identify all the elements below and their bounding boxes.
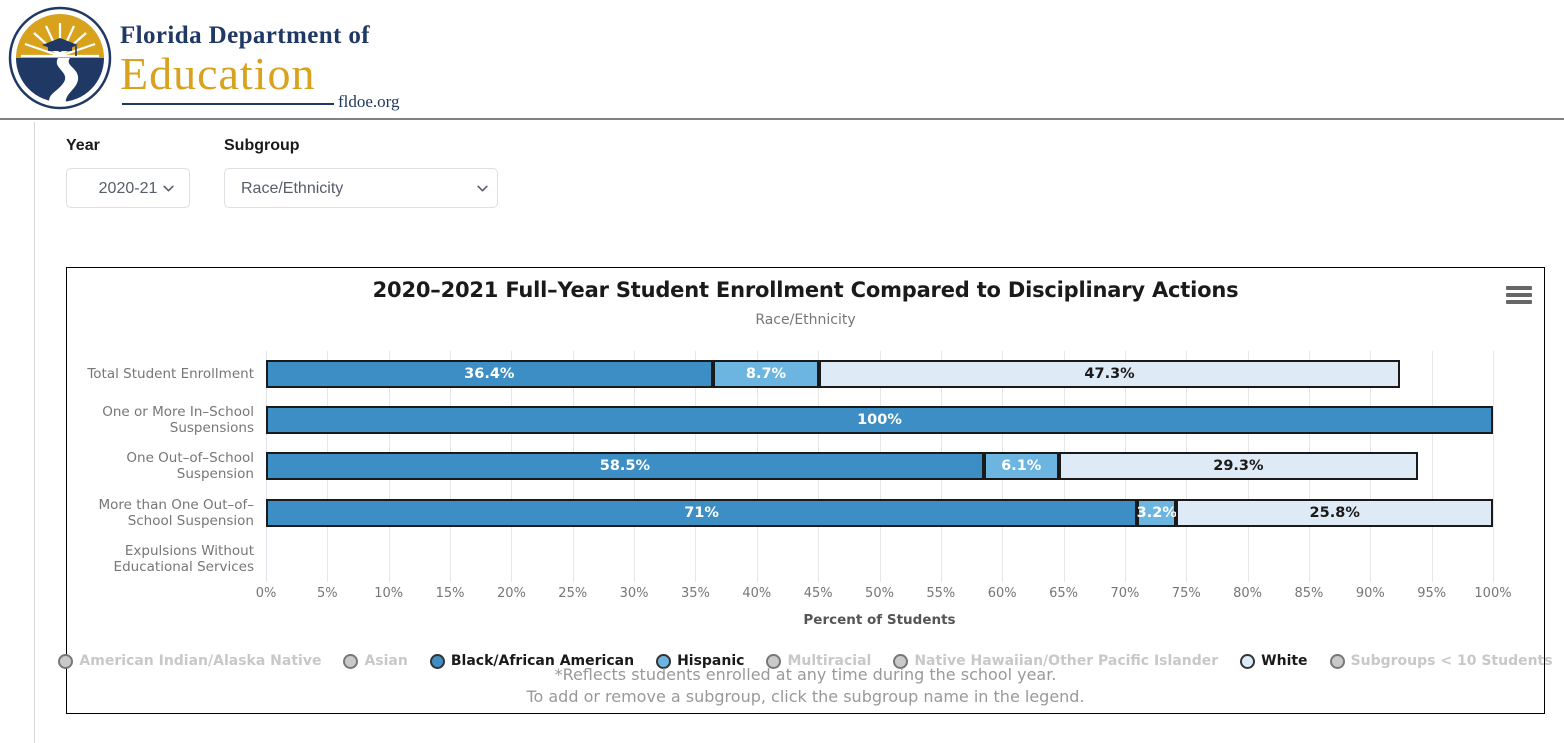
year-select[interactable]: 2020-21 <box>66 168 190 208</box>
x-tick-label: 40% <box>742 586 771 601</box>
bar-track <box>266 545 1493 573</box>
subgroup-select[interactable]: Race/Ethnicity <box>224 168 498 208</box>
bar-segment[interactable]: 47.3% <box>819 360 1399 388</box>
bar-track: 58.5%6.1%29.3% <box>266 452 1493 480</box>
bar-segment[interactable]: 36.4% <box>266 360 713 388</box>
logo-url: fldoe.org <box>338 92 400 112</box>
x-tick-label: 100% <box>1474 586 1511 601</box>
bar-row: One Out–of–School Suspension58.5%6.1%29.… <box>266 443 1493 489</box>
bar-track: 71%3.2%25.8% <box>266 499 1493 527</box>
bar-segment[interactable]: 71% <box>266 499 1137 527</box>
x-tick-label: 10% <box>374 586 403 601</box>
category-label: One or More In–School Suspensions <box>64 404 254 436</box>
x-tick-label: 60% <box>988 586 1017 601</box>
bar-segment[interactable]: 3.2% <box>1137 499 1176 527</box>
x-tick-label: 80% <box>1233 586 1262 601</box>
x-tick-label: 95% <box>1417 586 1446 601</box>
category-label: More than One Out–of–School Suspension <box>64 497 254 529</box>
x-axis-title: Percent of Students <box>266 612 1493 628</box>
bar-segment[interactable]: 58.5% <box>266 452 984 480</box>
chart-panel: 2020–2021 Full–Year Student Enrollment C… <box>66 267 1545 714</box>
graduation-cap-sunrise-seal-icon <box>8 6 112 110</box>
hamburger-menu-icon[interactable] <box>1506 284 1532 306</box>
x-tick-label: 85% <box>1294 586 1323 601</box>
x-tick-label: 45% <box>804 586 833 601</box>
x-tick-label: 90% <box>1356 586 1385 601</box>
gridline <box>1493 351 1494 582</box>
x-tick-label: 30% <box>620 586 649 601</box>
footnote-1: *Reflects students enrolled at any time … <box>67 664 1544 686</box>
year-filter-label: Year <box>66 137 100 155</box>
x-axis-ticks: 0%5%10%15%20%25%30%35%40%45%50%55%60%65%… <box>266 586 1493 606</box>
footnote-2: To add or remove a subgroup, click the s… <box>67 686 1544 708</box>
bar-row: Total Student Enrollment36.4%8.7%47.3% <box>266 351 1493 397</box>
chart-footnotes: *Reflects students enrolled at any time … <box>67 664 1544 708</box>
category-label: Total Student Enrollment <box>64 366 254 382</box>
x-tick-label: 35% <box>681 586 710 601</box>
bar-segment[interactable]: 25.8% <box>1176 499 1493 527</box>
bar-track: 36.4%8.7%47.3% <box>266 360 1493 388</box>
x-tick-label: 5% <box>317 586 338 601</box>
bar-row: Expulsions Without Educational Services <box>266 536 1493 582</box>
x-tick-label: 70% <box>1110 586 1139 601</box>
x-tick-label: 15% <box>436 586 465 601</box>
bar-row: One or More In–School Suspensions100% <box>266 397 1493 443</box>
chart-title: 2020–2021 Full–Year Student Enrollment C… <box>67 278 1544 302</box>
chart-subtitle: Race/Ethnicity <box>67 312 1544 328</box>
x-tick-label: 0% <box>256 586 277 601</box>
x-tick-label: 50% <box>865 586 894 601</box>
site-header: Florida Department of Education fldoe.or… <box>0 0 1564 120</box>
fldoe-logo: Florida Department of Education fldoe.or… <box>8 6 368 110</box>
x-tick-label: 55% <box>926 586 955 601</box>
logo-divider <box>122 103 334 105</box>
bar-segment[interactable]: 8.7% <box>713 360 820 388</box>
x-tick-label: 75% <box>1172 586 1201 601</box>
bar-segment[interactable]: 29.3% <box>1059 452 1419 480</box>
bar-row: More than One Out–of–School Suspension71… <box>266 490 1493 536</box>
category-label: One Out–of–School Suspension <box>64 450 254 482</box>
bar-segment[interactable]: 100% <box>266 406 1493 434</box>
logo-line-1: Florida Department of <box>120 22 370 50</box>
subgroup-filter-label: Subgroup <box>224 137 300 155</box>
logo-wordmark: Florida Department of Education fldoe.or… <box>120 22 370 98</box>
x-tick-label: 25% <box>558 586 587 601</box>
x-tick-label: 20% <box>497 586 526 601</box>
bar-segment[interactable]: 6.1% <box>984 452 1059 480</box>
logo-line-2: Education <box>120 50 370 98</box>
category-label: Expulsions Without Educational Services <box>64 543 254 575</box>
bar-track: 100% <box>266 406 1493 434</box>
plot-area: Total Student Enrollment36.4%8.7%47.3%On… <box>266 351 1493 582</box>
content-left-divider <box>34 122 35 743</box>
x-tick-label: 65% <box>1049 586 1078 601</box>
